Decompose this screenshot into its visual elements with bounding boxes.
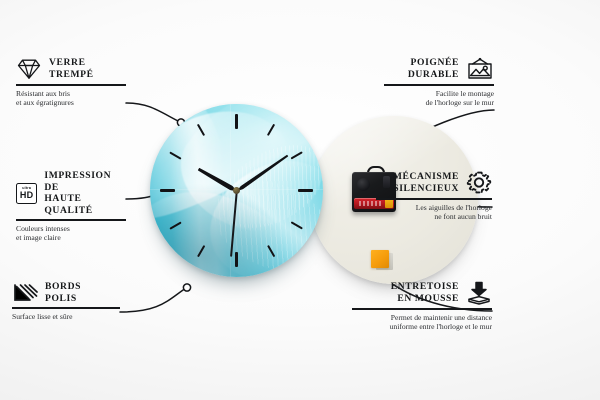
tick-2 (291, 151, 303, 159)
callout-rule (376, 198, 492, 200)
callout-title-line2: POLIS (45, 293, 81, 305)
callout-rule (384, 84, 494, 86)
clock-hands-cap (233, 187, 240, 194)
tick-8 (170, 221, 182, 229)
polished-edges-icon (12, 282, 38, 304)
ultra-hd-badge-icon: ultra HD (16, 183, 37, 204)
callout-desc-line2: et aux égratignures (16, 98, 126, 107)
callout-rule (12, 307, 120, 309)
foam-spacer-icon (466, 281, 492, 305)
printed-glass-clock-face (150, 104, 323, 277)
callout-mecanisme-silencieux: MÉCANISME SILENCIEUX Les aiguilles de l'… (376, 170, 492, 221)
callout-desc-line2: uniforme entre l'horloge et le mur (352, 322, 492, 331)
callout-rule (16, 219, 126, 221)
tick-9 (160, 189, 175, 192)
callout-entretoise-en-mousse: ENTRETOISE EN MOUSSE Permet de maintenir… (352, 281, 492, 331)
callout-title-line1: ENTRETOISE (391, 281, 459, 293)
callout-title-line2: TREMPÉ (49, 69, 94, 81)
callout-desc-line1: Les aiguilles de l'horloge (376, 203, 492, 212)
callout-desc-line2: de l'horloge sur le mur (384, 98, 494, 107)
tick-4 (291, 221, 303, 229)
callout-title-line2: HAUTE QUALITÉ (44, 193, 126, 216)
connector-endpoint-left-3 (183, 284, 190, 291)
hanging-picture-icon (466, 57, 494, 81)
gear-icon (466, 170, 492, 195)
callout-desc-line1: Surface lisse et sûre (12, 312, 120, 321)
callout-title-line2: SILENCIEUX (393, 183, 459, 195)
callout-rule (352, 308, 492, 310)
foam-spacer (371, 250, 390, 269)
ultra-hd-large-text: HD (20, 191, 34, 200)
callout-title-line2: EN MOUSSE (391, 293, 459, 305)
callout-rule (16, 84, 126, 86)
infographic-stage: VERRE TREMPÉ Résistant aux bris et aux é… (0, 0, 600, 400)
callout-title-line1: BORDS (45, 281, 81, 293)
callout-verre-trempe: VERRE TREMPÉ Résistant aux bris et aux é… (16, 57, 126, 107)
tick-12 (235, 114, 238, 129)
tick-5 (267, 245, 275, 257)
callout-title-line1: POIGNÉE (408, 57, 459, 69)
callout-desc-line1: Permet de maintenir une distance (352, 313, 492, 322)
callout-desc-line1: Couleurs intenses (16, 224, 126, 233)
connector-line-left-3 (120, 288, 186, 312)
callout-title-line2: DURABLE (408, 69, 459, 81)
tick-6 (235, 252, 238, 267)
tick-7 (197, 245, 205, 257)
callout-poignee-durable: POIGNÉE DURABLE Facilite le montage de l… (384, 57, 494, 107)
tick-11 (197, 124, 205, 136)
callout-impression-haute-qualite: ultra HD IMPRESSION DE HAUTE QUALITÉ Cou… (16, 170, 126, 243)
callout-title-line1: IMPRESSION DE (44, 170, 126, 193)
callout-desc-line1: Facilite le montage (384, 89, 494, 98)
diamond-icon (16, 57, 42, 81)
callout-title-line1: VERRE (49, 57, 94, 69)
callout-desc-line1: Résistant aux bris (16, 89, 126, 98)
foam-spacer-top (371, 250, 389, 268)
callout-bords-polis: BORDS POLIS Surface lisse et sûre (12, 281, 120, 321)
tick-10 (170, 151, 182, 159)
tick-3 (298, 189, 313, 192)
callout-desc-line2: ne font aucun bruit (376, 212, 492, 221)
tick-1 (267, 124, 275, 136)
callout-desc-line2: et image claire (16, 233, 126, 242)
callout-title-line1: MÉCANISME (393, 171, 459, 183)
